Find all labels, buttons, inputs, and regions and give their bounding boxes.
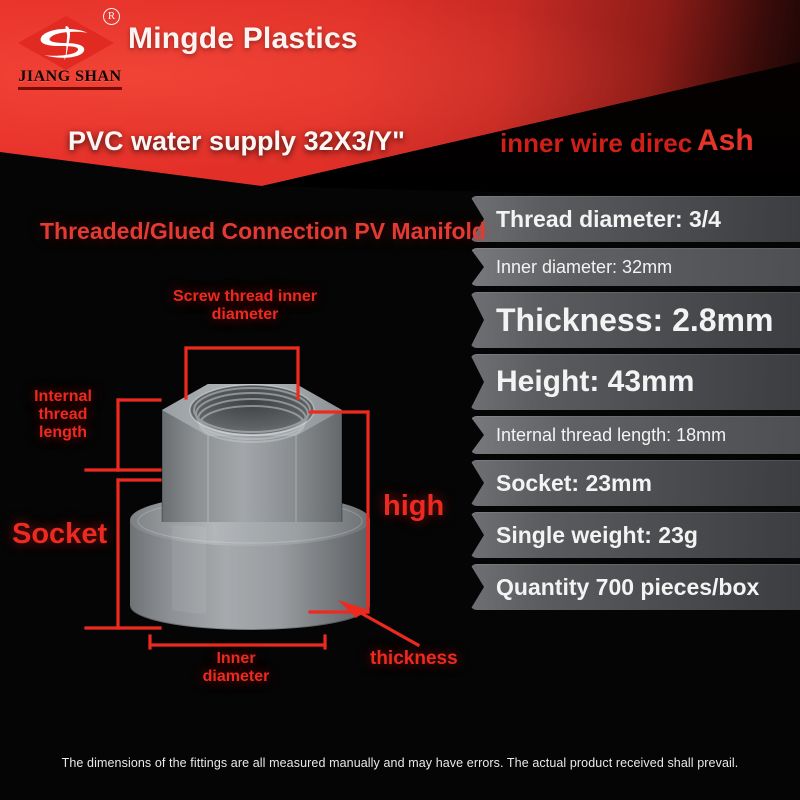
spec-label: Thread diameter: 3/4 — [496, 206, 721, 233]
label-thickness: thickness — [370, 648, 458, 669]
label-screw-thread-inner-diameter: Screw thread innerdiameter — [160, 288, 330, 324]
spec-panel: Thickness: 2.8mm — [470, 292, 800, 348]
spec-label: Inner diameter: 32mm — [496, 257, 672, 278]
spec-panel: Internal thread length: 18mm — [470, 416, 800, 454]
product-infographic: { "brand": { "name": "Mingde Plastics", … — [0, 0, 800, 800]
spec-label: Thickness: 2.8mm — [496, 302, 773, 339]
title-accent-text: inner wire direc — [500, 128, 692, 159]
label-internal-thread-length: Internalthreadlength — [22, 388, 104, 442]
swirl-monogram-icon — [36, 24, 96, 62]
spec-label: Quantity 700 pieces/box — [496, 574, 759, 601]
spec-label: Height: 43mm — [496, 365, 694, 399]
spec-panel: Thread diameter: 3/4 — [470, 196, 800, 242]
label-inner-diameter: Innerdiameter — [176, 650, 296, 686]
logo-wordmark: JIANG SHAN — [14, 68, 126, 86]
product-image — [120, 370, 380, 640]
spec-panel: Height: 43mm — [470, 354, 800, 410]
spec-label: Internal thread length: 18mm — [496, 425, 726, 446]
page-title: PVC water supply 32X3/Y" — [68, 126, 405, 157]
logo-underbar — [18, 87, 122, 90]
spec-panel: Single weight: 23g — [470, 512, 800, 558]
spec-label: Socket: 23mm — [496, 470, 652, 497]
brand-name: Mingde Plastics — [128, 22, 358, 56]
page-subtitle: Threaded/Glued Connection PV Manifold — [40, 218, 486, 245]
title-overlay-text: Ash — [697, 124, 754, 158]
spec-label: Single weight: 23g — [496, 522, 698, 549]
label-high: high — [383, 490, 444, 522]
spec-panel: Quantity 700 pieces/box — [470, 564, 800, 610]
spec-panel: Socket: 23mm — [470, 460, 800, 506]
disclaimer-text: The dimensions of the fittings are all m… — [0, 756, 800, 770]
label-socket: Socket — [12, 518, 107, 550]
specifications-list: Thread diameter: 3/4Inner diameter: 32mm… — [470, 196, 800, 616]
brand-logo: R JIANG SHAN — [14, 8, 126, 90]
registered-trademark-icon: R — [103, 8, 120, 25]
spec-panel: Inner diameter: 32mm — [470, 248, 800, 286]
